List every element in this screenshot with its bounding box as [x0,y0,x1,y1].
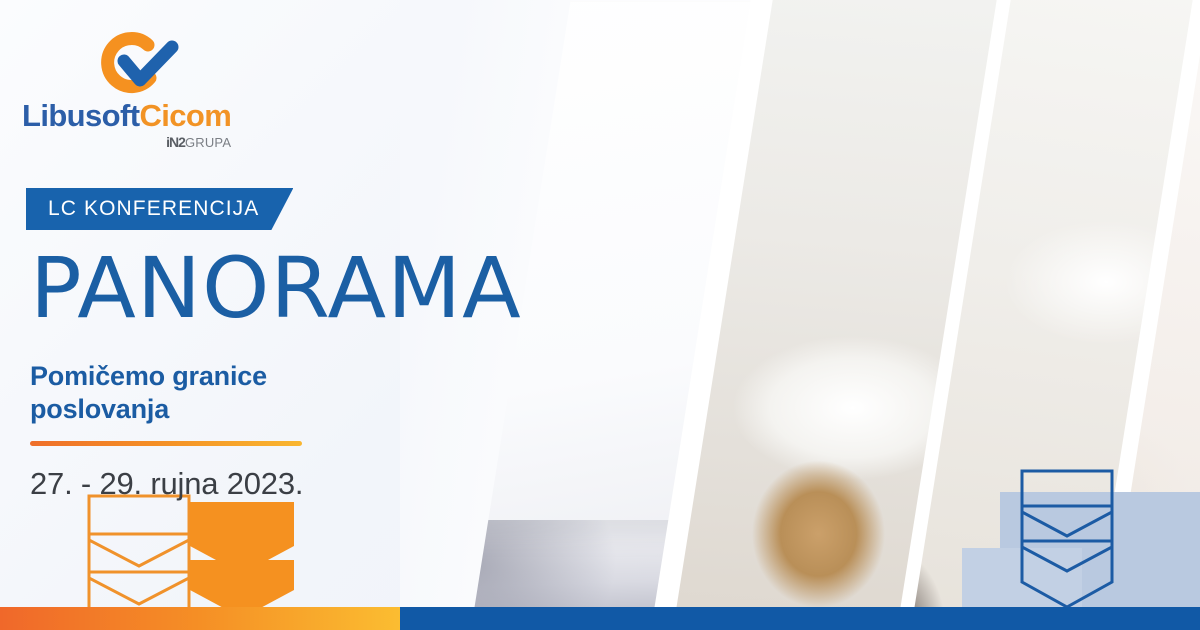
conference-banner: LibusoftCicom iN2GRUPA LC KONFERENCIJA P… [0,0,1200,630]
bottom-bar-orange-segment [0,607,400,630]
status-badge-label: LC KONFERENCIJA [48,197,259,221]
tagline: Pomičemo granice poslovanja [30,360,267,427]
brand-sub-label: iN2GRUPA [22,134,231,150]
gradient-divider [30,441,302,446]
brand-logo[interactable]: LibusoftCicom iN2GRUPA [22,28,231,150]
banner-content: LibusoftCicom iN2GRUPA LC KONFERENCIJA P… [0,0,470,610]
status-badge: LC KONFERENCIJA [26,188,293,230]
brand-sub-suffix: GRUPA [185,135,231,150]
bottom-bar [0,607,1200,630]
tagline-line-2: poslovanja [30,393,267,426]
brand-name-part2: Cicom [139,98,231,133]
c-arc-check-icon [84,28,182,96]
brand-name-part1: Libusoft [22,98,139,133]
chevron-outline-blue-group [1019,468,1115,615]
chevron-outline-blue-icon [1019,468,1115,610]
brand-wordmark: LibusoftCicom [22,100,231,131]
tagline-line-1: Pomičemo granice [30,360,267,393]
logo-mark-icon [84,28,182,96]
page-title: PANORAMA [30,246,522,330]
event-date: 27. - 29. rujna 2023. [30,466,303,502]
bottom-bar-blue-segment [400,607,1200,630]
brand-sub-prefix: iN2 [166,134,185,150]
